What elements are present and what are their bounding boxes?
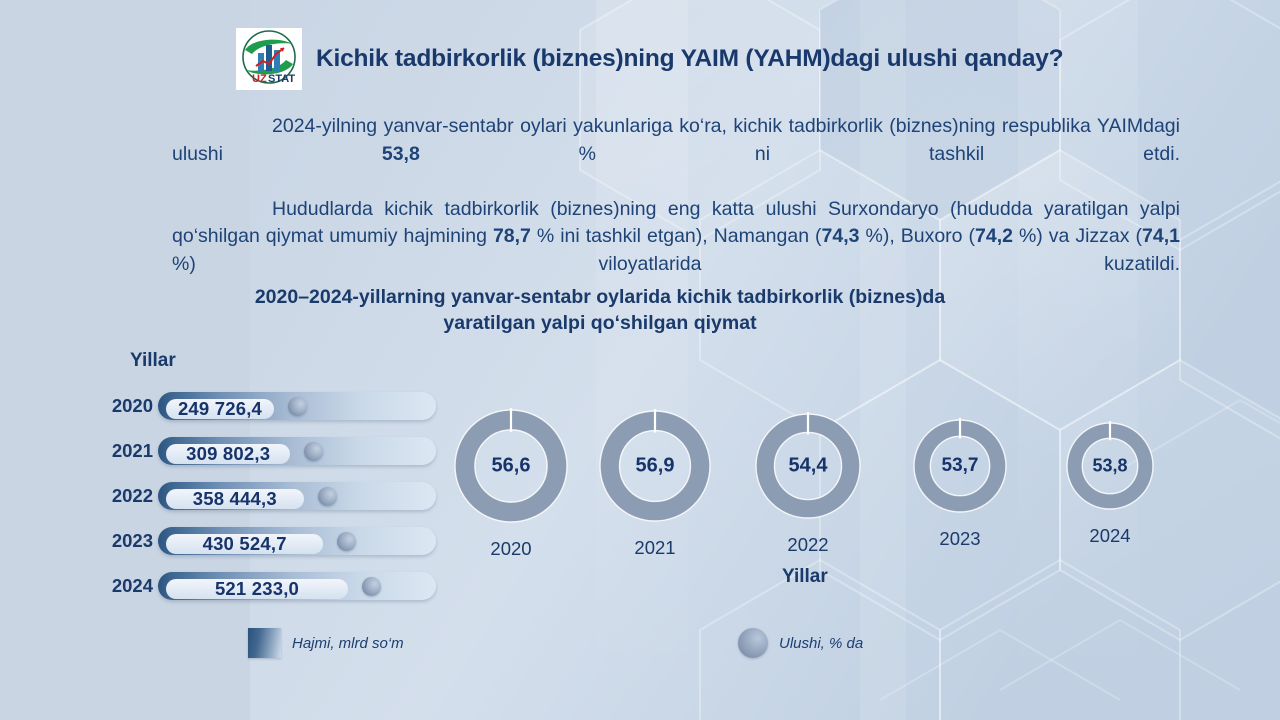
highlighted-figure: 53,8 [382,143,420,165]
bar-row-year-label: 2021 [96,440,158,462]
legend-label: Hajmi, mlrd so‘m [292,635,404,652]
highlighted-figure: 74,3 [822,225,860,247]
chart-title-line-2: yaratilgan yalpi qo‘shilgan qiymat [250,310,950,336]
bar-value-label: 430 524,7 [203,533,287,555]
donut-value-label: 54,4 [789,455,828,478]
donut-cell: 53,72023 [910,388,1010,588]
bar-row-year-label: 2023 [96,530,158,552]
bar-value-capsule: 249 726,4 [166,399,274,419]
highlighted-figure: 78,7 [493,225,531,247]
bar-share-marker [362,577,381,596]
donut-chart-group: 56,6202056,9202154,4202253,7202353,82024… [440,388,1180,588]
bar-fill: 430 524,7 [158,527,436,555]
legend-hajmi: Hajmi, mlrd so‘m [248,628,404,658]
legend-circle-swatch [738,628,768,658]
bar-value-capsule: 521 233,0 [166,579,348,599]
bar-fill: 358 444,3 [158,482,436,510]
donut-cell: 53,82024 [1063,388,1157,588]
bar-value-label: 249 726,4 [178,398,262,420]
highlighted-figure: 74,1 [1142,225,1180,247]
bar-value-capsule: 309 802,3 [166,444,290,464]
bar-track: 249 726,4 [158,389,436,423]
bar-row: 2023430 524,7 [96,523,436,559]
bar-value-capsule: 358 444,3 [166,489,304,509]
donut-cell: 54,42022 [752,388,864,588]
bar-value-label: 309 802,3 [186,443,270,465]
bar-share-marker [318,487,337,506]
bar-chart: Yillar 2020249 726,42021309 802,32022358… [96,350,436,590]
donut-value-label: 56,9 [636,455,675,478]
bar-axis-title: Yillar [130,350,176,372]
logo-text-stat: STAT [268,73,295,85]
logo-text-uz: UZ [252,73,267,85]
header: UZ STAT Kichik tadbirkorlik (biznes)ning… [236,28,1063,90]
bar-track: 521 233,0 [158,569,436,603]
donut-cell: 56,62020 [451,388,571,588]
donut-year-label: 2023 [939,528,980,550]
bar-row: 2020249 726,4 [96,388,436,424]
chart-title-line-1: 2020–2024-yillarning yanvar-sentabr oyla… [250,284,950,310]
donut-cell: 56,92021 [596,388,714,588]
highlighted-figure: 74,2 [975,225,1013,247]
bar-share-marker [288,397,307,416]
bar-row: 2024521 233,0 [96,568,436,604]
bar-row-year-label: 2022 [96,485,158,507]
bar-row: 2021309 802,3 [96,433,436,469]
chart-title: 2020–2024-yillarning yanvar-sentabr oyla… [250,284,950,336]
bar-value-label: 358 444,3 [193,488,277,510]
legend-square-swatch [248,628,281,658]
bar-value-label: 521 233,0 [215,578,299,600]
donut-value-label: 53,8 [1092,456,1127,477]
donut-year-label: 2024 [1089,525,1130,547]
legend-label: Ulushi, % da [779,635,863,652]
legend-ulushi: Ulushi, % da [738,628,863,658]
legend: Hajmi, mlrd so‘mUlushi, % da [0,628,1280,668]
bar-row-year-label: 2024 [96,575,158,597]
donut-value-label: 53,7 [942,455,979,477]
donut-year-label: 2022 [787,534,828,556]
bar-track: 430 524,7 [158,524,436,558]
bar-row-year-label: 2020 [96,395,158,417]
bar-value-capsule: 430 524,7 [166,534,323,554]
bar-fill: 309 802,3 [158,437,436,465]
paragraph-1: 2024-yilning yanvar-sentabr oylari yakun… [172,113,1180,196]
intro-text: 2024-yilning yanvar-sentabr oylari yakun… [172,113,1180,306]
bar-row: 2022358 444,3 [96,478,436,514]
donut-year-label: 2020 [490,538,531,560]
bar-track: 358 444,3 [158,479,436,513]
uzstat-logo: UZ STAT [236,28,302,90]
donut-year-label: 2021 [634,537,675,559]
page-title: Kichik tadbirkorlik (biznes)ning YAIM (Y… [316,45,1063,73]
donut-value-label: 56,6 [492,455,531,478]
bar-track: 309 802,3 [158,434,436,468]
bar-fill: 521 233,0 [158,572,436,600]
donut-axis-title: Yillar [782,566,828,588]
